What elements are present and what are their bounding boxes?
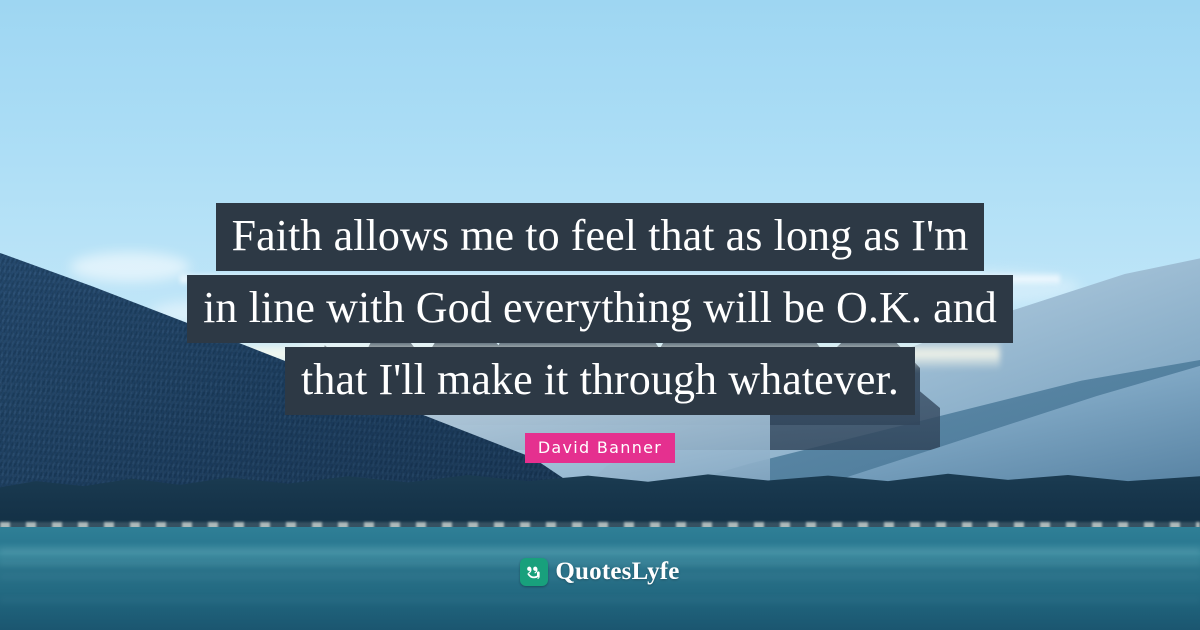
quote-line-row: Faith allows me to feel that as long as … (0, 203, 1200, 271)
water-streak (0, 597, 1200, 603)
branding-block: QuotesLyfe (0, 558, 1200, 586)
brand-name: QuotesLyfe (555, 558, 679, 586)
quote-line-2: in line with God everything will be O.K.… (187, 275, 1013, 343)
quote-line-3: that I'll make it through whatever. (285, 347, 915, 415)
quote-line-row: in line with God everything will be O.K.… (0, 275, 1200, 343)
author-block: David Banner (0, 433, 1200, 463)
water-streak (0, 548, 1200, 555)
quote-line-1: Faith allows me to feel that as long as … (216, 203, 985, 271)
quote-smiley-icon (520, 558, 548, 586)
quote-line-row: that I'll make it through whatever. (0, 347, 1200, 415)
quote-card: Faith allows me to feel that as long as … (0, 0, 1200, 630)
quoteslyfe-logo[interactable]: QuotesLyfe (520, 558, 679, 586)
quote-block: Faith allows me to feel that as long as … (0, 203, 1200, 415)
author-badge: David Banner (525, 433, 675, 463)
